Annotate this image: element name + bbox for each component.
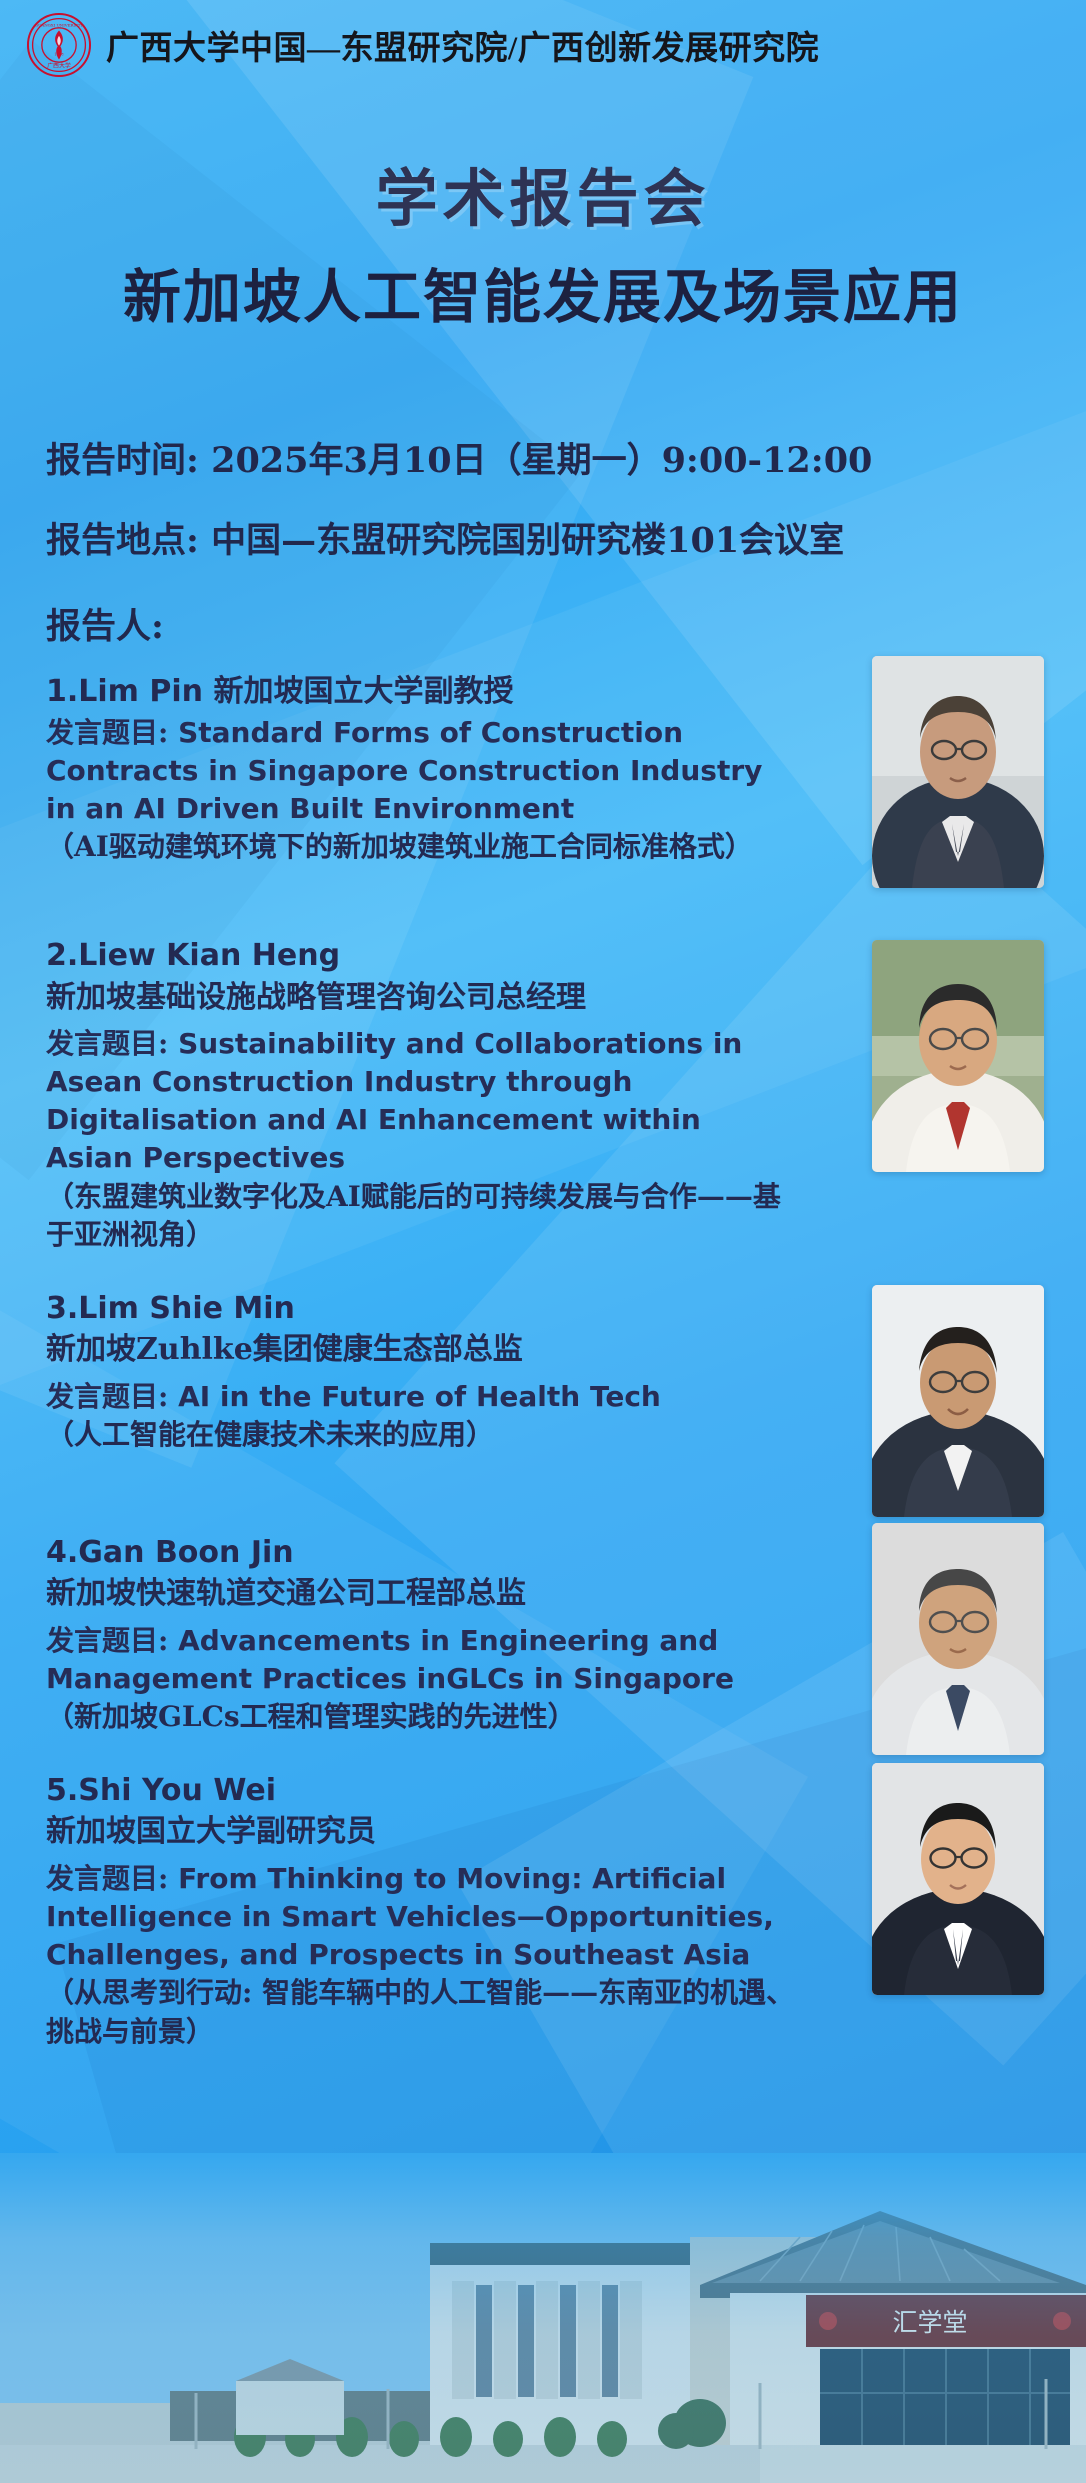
speaker-entry: 3.Lim Shie Min 新加坡Zuhlke集团健康生态部总监 发言题目: …: [46, 1289, 1040, 1499]
speaker-entry: 5.Shi You Wei 新加坡国立大学副研究员 发言题目: From Thi…: [46, 1771, 1040, 2052]
speaker-name: 1.Lim Pin 新加坡国立大学副教授: [46, 672, 796, 712]
speaker-topic: 发言题目: From Thinking to Moving: Artificia…: [46, 1860, 796, 1974]
speaker-name: 4.Gan Boon Jin: [46, 1533, 796, 1573]
speaker-entry: 4.Gan Boon Jin 新加坡快速轨道交通公司工程部总监 发言题目: Ad…: [46, 1533, 1040, 1737]
topic-chinese: （东盟建筑业数字化及AI赋能后的可持续发展与合作——基于亚洲视角）: [46, 1178, 796, 1255]
report-time: 报告时间: 2025年3月10日（星期一）9:00-12:00: [46, 432, 1046, 483]
speaker-entry: 1.Lim Pin 新加坡国立大学副教授 发言题目: Standard Form…: [46, 672, 1040, 902]
university-emblem-icon: 广西大学 GUANGXI UNIVERSITY 1928: [26, 12, 92, 78]
topic-label: 发言题目:: [46, 1027, 168, 1060]
speaker-entry: 2.Liew Kian Heng 新加坡基础设施战略管理咨询公司总经理 发言题目…: [46, 936, 1040, 1255]
speaker-topic: 发言题目: Advancements in Engineering and Ma…: [46, 1622, 796, 1698]
topic-english: AI in the Future of Health Tech: [178, 1380, 661, 1413]
poster-title-sub: 新加坡人工智能发展及场景应用: [0, 250, 1086, 334]
speaker-list: 1.Lim Pin 新加坡国立大学副教授 发言题目: Standard Form…: [46, 672, 1040, 2085]
topic-label: 发言题目:: [46, 716, 168, 749]
poster-root: 广西大学 GUANGXI UNIVERSITY 1928 广西大学中国—东盟研究…: [0, 0, 1086, 2483]
topic-label: 发言题目:: [46, 1624, 168, 1657]
speaker-text-block: 2.Liew Kian Heng 新加坡基础设施战略管理咨询公司总经理 发言题目…: [46, 936, 806, 1255]
speaker-name: 3.Lim Shie Min: [46, 1289, 796, 1329]
speaker-affiliation: 新加坡快速轨道交通公司工程部总监: [46, 1574, 796, 1614]
speaker-text-block: 1.Lim Pin 新加坡国立大学副教授 发言题目: Standard Form…: [46, 672, 806, 866]
speaker-photo: [872, 1523, 1044, 1755]
report-place: 报告地点: 中国—东盟研究院国别研究楼101会议室: [46, 512, 1046, 563]
speaker-topic: 发言题目: Standard Forms of Construction Con…: [46, 714, 796, 828]
topic-chinese: （人工智能在健康技术未来的应用）: [46, 1416, 796, 1455]
organization-name: 广西大学中国—东盟研究院/广西创新发展研究院: [106, 21, 819, 69]
speaker-topic: 发言题目: Sustainability and Collaborations …: [46, 1025, 796, 1177]
speaker-text-block: 5.Shi You Wei 新加坡国立大学副研究员 发言题目: From Thi…: [46, 1771, 806, 2052]
speaker-name: 5.Shi You Wei: [46, 1771, 796, 1811]
topic-chinese: （AI驱动建筑环境下的新加坡建筑业施工合同标准格式）: [46, 828, 796, 867]
speaker-text-block: 3.Lim Shie Min 新加坡Zuhlke集团健康生态部总监 发言题目: …: [46, 1289, 806, 1455]
speaker-affiliation: 新加坡国立大学副研究员: [46, 1812, 796, 1852]
speaker-photo: [872, 1763, 1044, 1995]
poster-title-main: 学术报告会: [0, 148, 1086, 238]
speaker-photo: [872, 656, 1044, 888]
svg-text:GUANGXI UNIVERSITY: GUANGXI UNIVERSITY: [35, 23, 83, 28]
campus-building-photo: 汇学堂: [0, 2153, 1086, 2483]
speaker-affiliation: 新加坡Zuhlke集团健康生态部总监: [46, 1330, 796, 1370]
svg-text:广西大学: 广西大学: [47, 61, 71, 69]
speaker-text-block: 4.Gan Boon Jin 新加坡快速轨道交通公司工程部总监 发言题目: Ad…: [46, 1533, 806, 1737]
topic-chinese: （新加坡GLCs工程和管理实践的先进性）: [46, 1698, 796, 1737]
svg-text:1928: 1928: [54, 53, 64, 57]
speaker-photo: [872, 940, 1044, 1172]
svg-text:汇学堂: 汇学堂: [892, 2308, 967, 2337]
speaker-name: 2.Liew Kian Heng: [46, 936, 796, 976]
speakers-section-label: 报告人:: [46, 598, 1046, 649]
topic-chinese: （从思考到行动: 智能车辆中的人工智能——东南亚的机遇、挑战与前景）: [46, 1974, 796, 2051]
speaker-photo: [872, 1285, 1044, 1517]
topic-label: 发言题目:: [46, 1380, 168, 1413]
poster-header: 广西大学 GUANGXI UNIVERSITY 1928 广西大学中国—东盟研究…: [0, 0, 1086, 90]
speaker-topic: 发言题目: AI in the Future of Health Tech: [46, 1378, 796, 1416]
topic-label: 发言题目:: [46, 1862, 168, 1895]
speaker-affiliation: 新加坡基础设施战略管理咨询公司总经理: [46, 978, 796, 1018]
